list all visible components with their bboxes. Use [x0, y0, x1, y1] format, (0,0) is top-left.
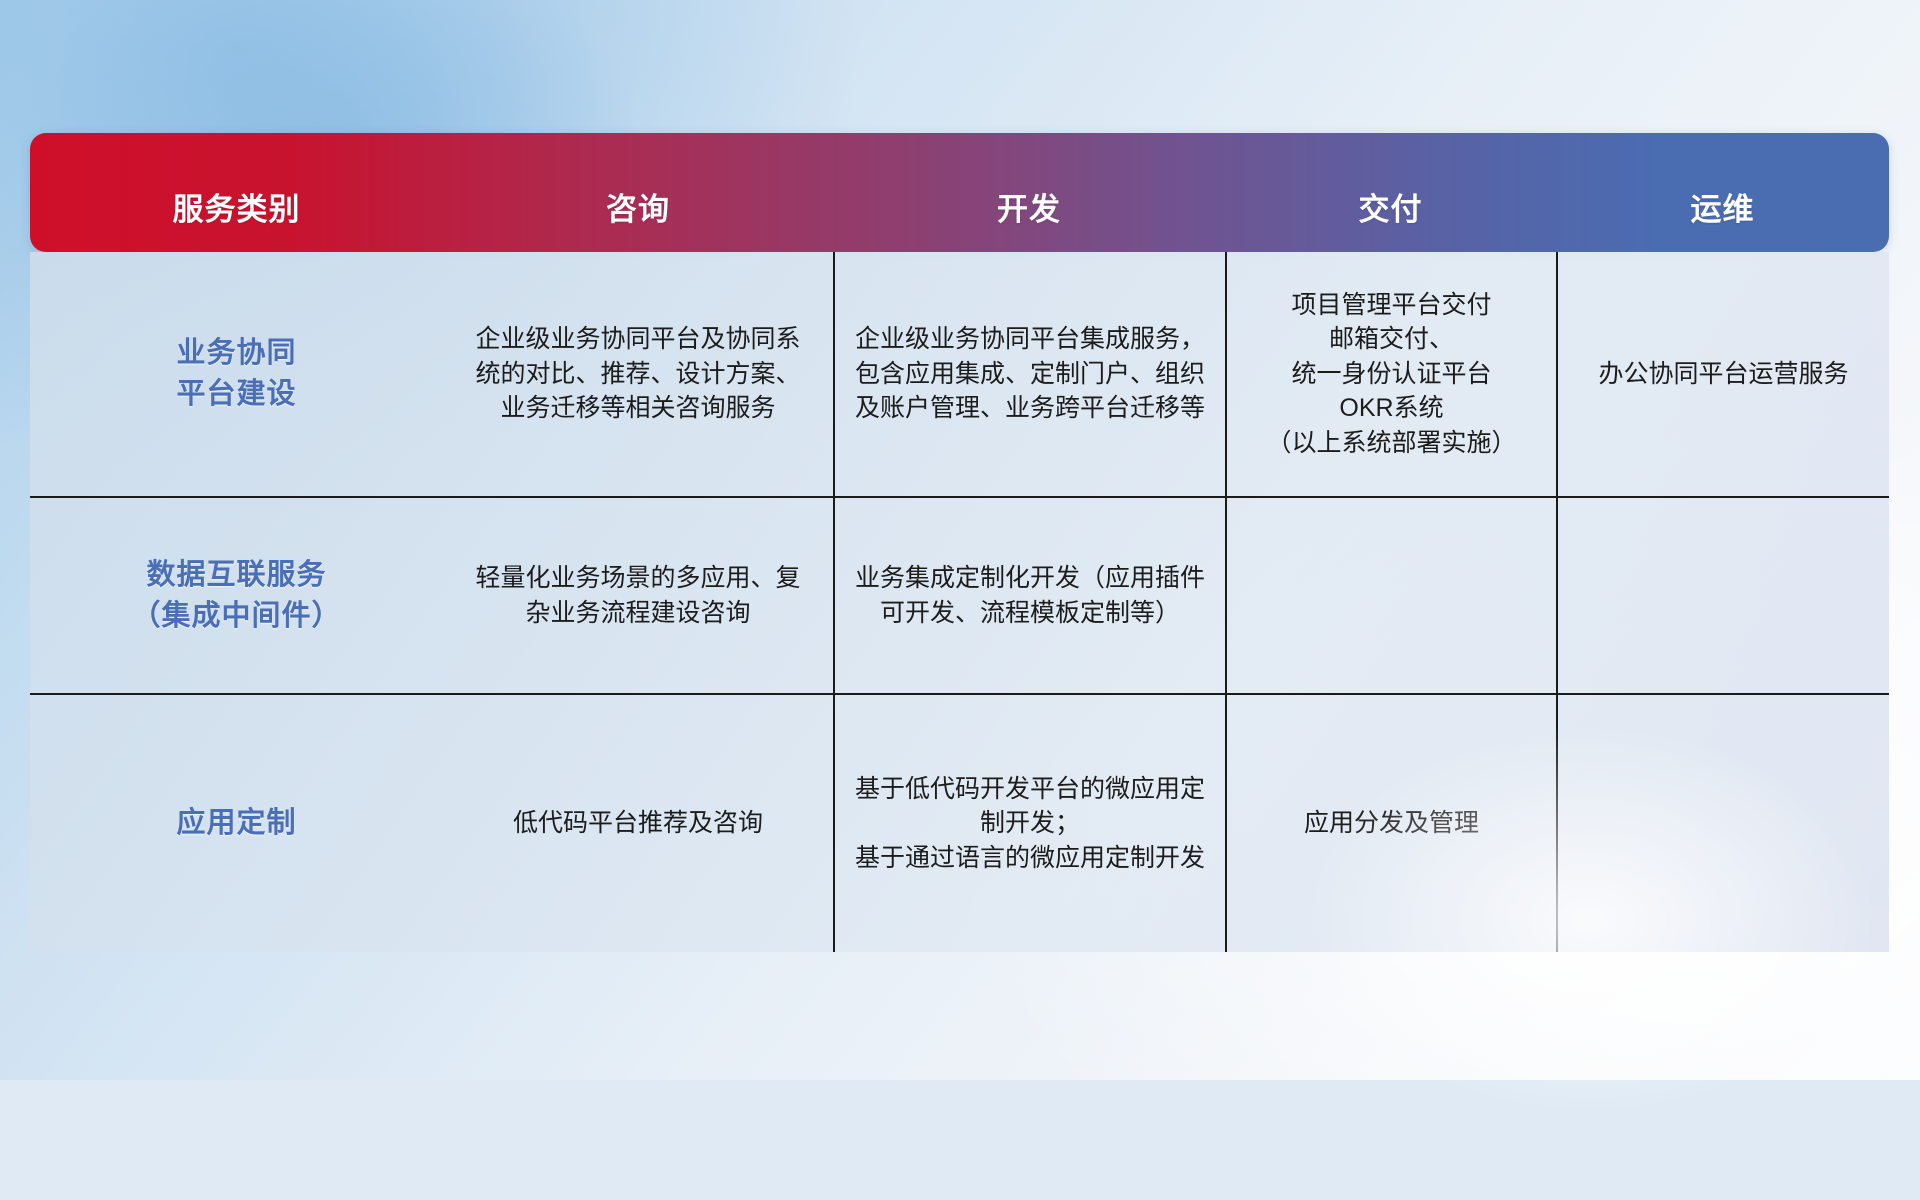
- column-header-operations: 运维: [1556, 194, 1889, 252]
- row-label-app-customization: 应用定制: [30, 695, 443, 952]
- cell-operations-r1: 办公协同平台运营服务: [1556, 252, 1889, 496]
- column-header-delivery: 交付: [1225, 194, 1556, 252]
- cell-operations-r2: [1556, 498, 1889, 693]
- column-header-consulting: 咨询: [443, 194, 833, 252]
- cell-consulting-r1: 企业级业务协同平台及协同系 统的对比、推荐、设计方案、 业务迁移等相关咨询服务: [443, 252, 833, 496]
- table-row: 业务协同 平台建设 企业级业务协同平台及协同系 统的对比、推荐、设计方案、 业务…: [30, 252, 1889, 496]
- column-header-development: 开发: [833, 194, 1225, 252]
- slide-canvas: 服务类别 咨询 开发 交付 运维 业务协同 平台建设 企业级业务协同平台及协同系…: [0, 0, 1920, 1080]
- cell-delivery-r1: 项目管理平台交付 邮箱交付、 统一身份认证平台 OKR系统 （以上系统部署实施）: [1225, 252, 1556, 496]
- table-body: 业务协同 平台建设 企业级业务协同平台及协同系 统的对比、推荐、设计方案、 业务…: [30, 252, 1889, 952]
- table-header-row: 服务类别 咨询 开发 交付 运维: [30, 133, 1889, 252]
- cell-consulting-r2: 轻量化业务场景的多应用、复 杂业务流程建设咨询: [443, 498, 833, 693]
- cell-development-r1: 企业级业务协同平台集成服务， 包含应用集成、定制门户、组织 及账户管理、业务跨平…: [833, 252, 1225, 496]
- table-row: 应用定制 低代码平台推荐及咨询 基于低代码开发平台的微应用定 制开发； 基于通过…: [30, 693, 1889, 952]
- cell-delivery-r2: [1225, 498, 1556, 693]
- row-label-data-interconnect: 数据互联服务 （集成中间件）: [30, 498, 443, 693]
- column-header-category: 服务类别: [30, 194, 443, 252]
- table-row: 数据互联服务 （集成中间件） 轻量化业务场景的多应用、复 杂业务流程建设咨询 业…: [30, 496, 1889, 693]
- cell-operations-r3: [1556, 695, 1889, 952]
- cell-development-r2: 业务集成定制化开发（应用插件 可开发、流程模板定制等）: [833, 498, 1225, 693]
- cell-consulting-r3: 低代码平台推荐及咨询: [443, 695, 833, 952]
- cell-delivery-r3: 应用分发及管理: [1225, 695, 1556, 952]
- cell-development-r3: 基于低代码开发平台的微应用定 制开发； 基于通过语言的微应用定制开发: [833, 695, 1225, 952]
- service-matrix-table: 服务类别 咨询 开发 交付 运维 业务协同 平台建设 企业级业务协同平台及协同系…: [30, 133, 1889, 953]
- row-label-business-collaboration: 业务协同 平台建设: [30, 252, 443, 496]
